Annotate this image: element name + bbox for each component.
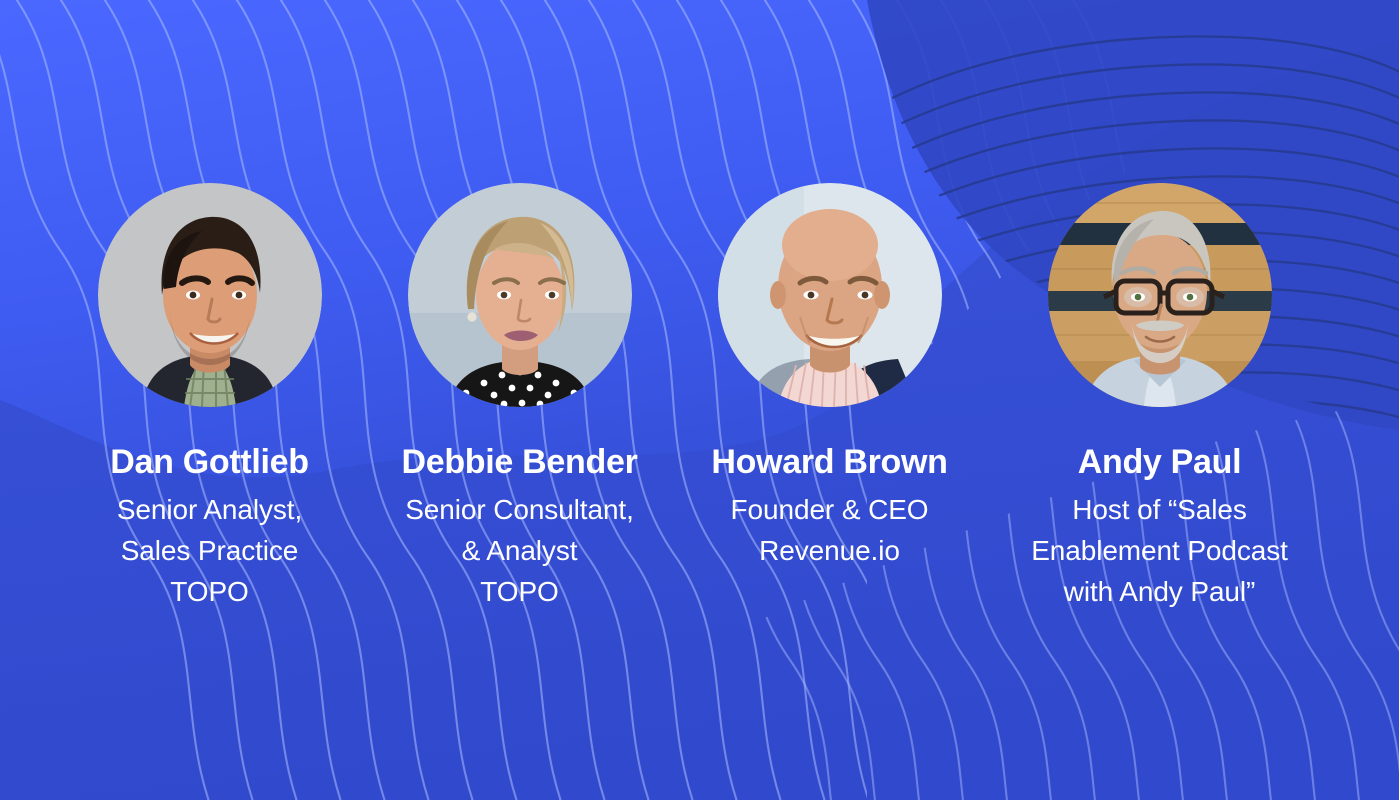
speaker-role: Founder & CEO Revenue.io bbox=[731, 490, 929, 572]
avatar-dan-gottlieb bbox=[98, 183, 322, 407]
speaker-role-line: Enablement Podcast bbox=[1031, 531, 1288, 572]
speaker-role-line: Sales Practice bbox=[117, 531, 302, 572]
speaker-banner: Dan Gottlieb Senior Analyst, Sales Pract… bbox=[0, 0, 1399, 800]
speaker-role: Host of “Sales Enablement Podcast with A… bbox=[1031, 490, 1288, 613]
speaker-role: Senior Consultant, & Analyst TOPO bbox=[405, 490, 634, 613]
speaker-role-line: Host of “Sales bbox=[1031, 490, 1288, 531]
speaker-org: TOPO bbox=[405, 572, 634, 613]
speaker-card-debbie-bender: Debbie Bender Senior Consultant, & Analy… bbox=[360, 183, 680, 613]
portrait-illustration bbox=[1048, 183, 1272, 407]
portrait-illustration bbox=[408, 183, 632, 407]
avatar-andy-paul bbox=[1048, 183, 1272, 407]
speaker-name: Debbie Bender bbox=[401, 443, 637, 482]
speaker-org: TOPO bbox=[117, 572, 302, 613]
speaker-role-line: Founder & CEO bbox=[731, 490, 929, 531]
speaker-role-line: with Andy Paul” bbox=[1031, 572, 1288, 613]
portrait-illustration bbox=[98, 183, 322, 407]
speaker-card-andy-paul: Andy Paul Host of “Sales Enablement Podc… bbox=[980, 183, 1340, 613]
speaker-role-line: Senior Analyst, bbox=[117, 490, 302, 531]
speaker-name: Howard Brown bbox=[711, 443, 947, 482]
speaker-role-line: Senior Consultant, bbox=[405, 490, 634, 531]
speaker-role: Senior Analyst, Sales Practice TOPO bbox=[117, 490, 302, 613]
avatar-debbie-bender bbox=[408, 183, 632, 407]
speaker-role-line: & Analyst bbox=[405, 531, 634, 572]
speaker-list: Dan Gottlieb Senior Analyst, Sales Pract… bbox=[0, 0, 1399, 800]
speaker-name: Andy Paul bbox=[1078, 443, 1242, 482]
speaker-org: Revenue.io bbox=[731, 531, 929, 572]
speaker-name: Dan Gottlieb bbox=[110, 443, 309, 482]
speaker-card-howard-brown: Howard Brown Founder & CEO Revenue.io bbox=[680, 183, 980, 572]
avatar-howard-brown bbox=[718, 183, 942, 407]
portrait-illustration bbox=[718, 183, 942, 407]
speaker-card-dan-gottlieb: Dan Gottlieb Senior Analyst, Sales Pract… bbox=[60, 183, 360, 613]
